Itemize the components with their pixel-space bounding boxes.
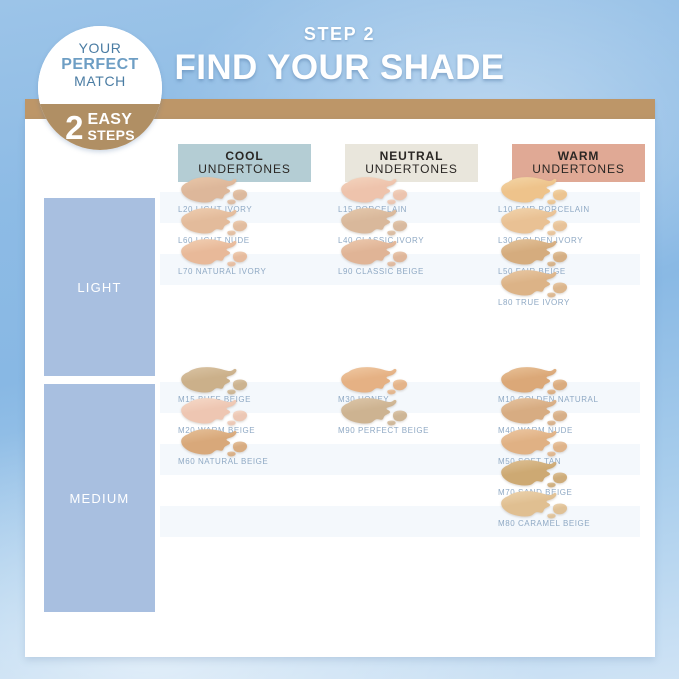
column-header-neutral-sub: UNDERTONES: [365, 163, 458, 176]
shade-name-label: L90 CLASSIC BEIGE: [338, 267, 488, 276]
shade-cell-empty: [160, 285, 320, 316]
table-row: M80 CARAMEL BEIGE: [160, 506, 640, 537]
badge-line-match: MATCH: [74, 74, 126, 89]
shade-swatch-icon: [498, 176, 572, 208]
shade-swatch-icon: [498, 459, 572, 491]
shade-swatch-icon: [498, 397, 572, 429]
shade-name-label: M90 PERFECT BEIGE: [338, 426, 488, 435]
shade-cell[interactable]: M80 CARAMEL BEIGE: [480, 506, 640, 537]
column-header-warm-sub: UNDERTONES: [532, 163, 625, 176]
shade-swatch-icon: [178, 238, 252, 270]
shade-swatch-icon: [178, 397, 252, 429]
shade-cell-empty: [160, 475, 320, 506]
level-block-medium: MEDIUM: [44, 384, 155, 612]
shade-swatch-icon: [338, 207, 412, 239]
badge-bottom: 2 EASY STEPS: [38, 104, 162, 150]
badge-top: YOUR PERFECT MATCH: [38, 26, 162, 104]
badge-line-perfect: PERFECT: [61, 56, 138, 73]
shade-swatch-icon: [338, 366, 412, 398]
perfect-match-badge: YOUR PERFECT MATCH 2 EASY STEPS: [38, 26, 162, 150]
shade-cell[interactable]: M90 PERFECT BEIGE: [320, 413, 480, 444]
shade-swatch-icon: [498, 490, 572, 522]
shade-cell[interactable]: M60 NATURAL BEIGE: [160, 444, 320, 475]
shade-name-label: L70 NATURAL IVORY: [178, 267, 328, 276]
shade-cell-empty: [160, 506, 320, 537]
shade-cell[interactable]: L70 NATURAL IVORY: [160, 254, 320, 285]
shade-swatch-icon: [178, 207, 252, 239]
shade-swatch-icon: [338, 238, 412, 270]
table-row: L80 TRUE IVORY: [160, 285, 640, 316]
shade-swatch-icon: [498, 238, 572, 270]
shade-swatch-icon: [338, 176, 412, 208]
shade-cell-empty: [320, 444, 480, 475]
shade-swatch-icon: [498, 366, 572, 398]
shade-swatch-icon: [498, 428, 572, 460]
badge-word-steps: STEPS: [87, 128, 134, 142]
shade-cell-empty: [320, 506, 480, 537]
shade-cell-empty: [320, 475, 480, 506]
shade-name-label: M60 NATURAL BEIGE: [178, 457, 328, 466]
badge-line-your: YOUR: [79, 41, 122, 56]
shade-swatch-icon: [178, 366, 252, 398]
shade-cell-empty: [320, 285, 480, 316]
shade-cell[interactable]: L90 CLASSIC BEIGE: [320, 254, 480, 285]
shade-swatch-icon: [498, 207, 572, 239]
shade-cell[interactable]: L80 TRUE IVORY: [480, 285, 640, 316]
shade-swatch-icon: [338, 397, 412, 429]
badge-step-number: 2: [65, 111, 83, 144]
shade-swatch-icon: [178, 176, 252, 208]
shade-grid-medium: M15 BUFF BEIGEM30 HONEYM10 GOLDEN NATURA…: [160, 382, 640, 537]
badge-word-easy: EASY: [87, 112, 134, 128]
badge-step-words: EASY STEPS: [87, 112, 134, 143]
shade-grid-light: L20 LIGHT IVORYL15 PORCELAINL10 FAIR POR…: [160, 192, 640, 316]
shade-swatch-icon: [498, 269, 572, 301]
shade-swatch-icon: [178, 428, 252, 460]
shade-name-label: L80 TRUE IVORY: [498, 298, 648, 307]
level-block-light: LIGHT: [44, 198, 155, 376]
shade-name-label: M80 CARAMEL BEIGE: [498, 519, 648, 528]
column-header-cool-sub: UNDERTONES: [198, 163, 291, 176]
shade-finder-page: STEP 2 FIND YOUR SHADE COOL UNDERTONES N…: [0, 0, 679, 679]
